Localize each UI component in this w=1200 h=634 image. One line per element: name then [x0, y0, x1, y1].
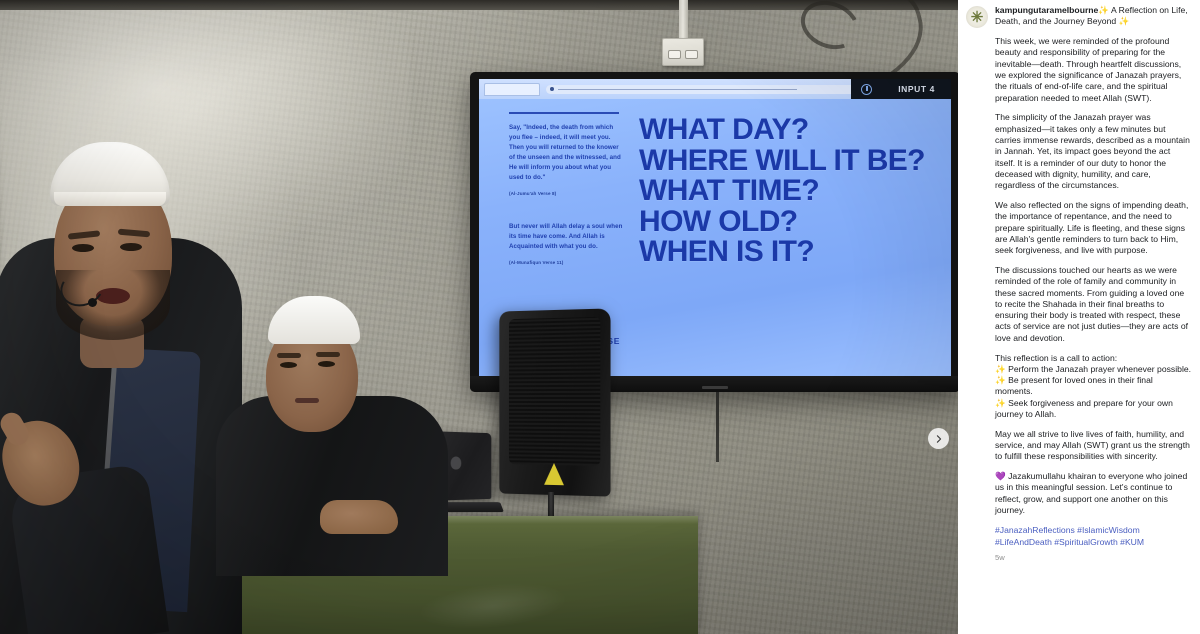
post-timestamp: 5w: [995, 553, 1192, 562]
caption-hashtags[interactable]: #JanazahReflections #IslamicWisdom #Life…: [995, 525, 1192, 548]
chevron-right-icon: [935, 435, 943, 443]
person-two-kufi-cap: [268, 296, 360, 344]
caption-body: kampungutaramelbourne✨ A Reflection on L…: [995, 5, 1192, 562]
sparkle-icon-cta-2: ✨: [995, 375, 1006, 385]
cta-item-2: Be present for loved ones in their final…: [995, 375, 1153, 396]
slide-divider: [509, 112, 619, 114]
assistant-person-seated: [232, 292, 442, 542]
avatar-asterisk-icon: ✳: [967, 7, 987, 27]
input-label: INPUT 4: [898, 84, 935, 94]
power-outlet: [662, 38, 704, 66]
post-username[interactable]: kampungutaramelbourne: [995, 5, 1098, 15]
slide-headline: WHAT DAY? WHERE WILL IT BE? WHAT TIME? H…: [639, 115, 925, 268]
person-two-eye-right: [318, 361, 335, 367]
post-media-photo[interactable]: INPUT 4 Say, "Indeed, the death from whi…: [0, 0, 958, 634]
purple-heart-icon: 💜: [995, 471, 1006, 481]
cta-item-3: Seek forgiveness and prepare for your ow…: [995, 398, 1173, 419]
slide-verse-two-reference: (Al-Munafiqun Verse 11): [509, 259, 624, 266]
caption-paragraph-1: This week, we were reminded of the profo…: [995, 36, 1192, 104]
caption-title-line: kampungutaramelbourne✨ A Reflection on L…: [995, 5, 1192, 28]
slide-headline-line-5: WHEN IS IT?: [639, 237, 925, 268]
caption-paragraph-4: The discussions touched our hearts as we…: [995, 265, 1192, 344]
table-cloth-fold: [416, 576, 570, 634]
slide-headline-line-1: WHAT DAY?: [639, 115, 925, 146]
person-two-eye-left: [280, 362, 297, 368]
person-one-eye-left: [72, 244, 94, 252]
speaker-person-standing: [0, 120, 250, 634]
cta-lead: This reflection is a call to action:: [995, 353, 1117, 363]
display-input-indicator: INPUT 4: [851, 79, 951, 99]
speaker-badge: [544, 463, 564, 485]
person-two-eyebrow-right: [316, 352, 340, 357]
laptop-logo-icon: [451, 457, 462, 470]
person-two-eyebrow-left: [277, 353, 301, 358]
caption-closing-paragraph-2: 💜 Jazakumullahu khairan to everyone who …: [995, 471, 1192, 516]
slide-headline-line-2: WHERE WILL IT BE?: [639, 146, 925, 177]
person-one-eye-right: [120, 243, 142, 251]
pa-speaker: [499, 308, 610, 496]
person-two-mouth: [295, 398, 319, 403]
outlet-socket-left: [668, 50, 681, 59]
person-one-kufi-cap: [50, 142, 170, 206]
outlet-socket-right: [685, 50, 698, 59]
caption-closing-paragraph-1: May we all strive to live lives of faith…: [995, 429, 1192, 463]
person-two-hands-on-keyboard: [320, 500, 398, 534]
screen-power-cable: [716, 392, 719, 462]
caption-paragraph-2: The simplicity of the Janazah prayer was…: [995, 112, 1192, 191]
avatar[interactable]: ✳: [966, 6, 988, 28]
slide-headline-line-4: HOW OLD?: [639, 207, 925, 238]
screen-brand-mark: [702, 386, 728, 389]
browser-tab: [484, 83, 540, 96]
closing-text: Jazakumullahu khairan to everyone who jo…: [995, 471, 1187, 515]
slide-verse-one-text: Say, "Indeed, the death from which you f…: [509, 124, 621, 181]
headset-microphone-tip: [88, 298, 97, 307]
slide-headline-line-3: WHAT TIME?: [639, 176, 925, 207]
speaker-grill: [509, 317, 600, 466]
carousel-next-button[interactable]: [928, 428, 949, 449]
slide-verse-two-text: But never will Allah delay a soul when i…: [509, 223, 622, 250]
instagram-post: INPUT 4 Say, "Indeed, the death from whi…: [0, 0, 1200, 634]
power-icon: [861, 84, 872, 95]
slide-verse-one: Say, "Indeed, the death from which you f…: [509, 123, 624, 198]
post-caption-panel: ✳ kampungutaramelbourne✨ A Reflection on…: [958, 0, 1200, 634]
cable-conduit: [679, 0, 688, 40]
sparkle-icon-cta-1: ✨: [995, 364, 1006, 374]
sparkle-icon-cta-3: ✨: [995, 398, 1006, 408]
sparkle-icon-start: ✨: [1098, 5, 1109, 15]
slide-verse-two: But never will Allah delay a soul when i…: [509, 222, 624, 267]
caption-row: ✳ kampungutaramelbourne✨ A Reflection on…: [966, 5, 1192, 562]
caption-paragraph-3: We also reflected on the signs of impend…: [995, 200, 1192, 256]
caption-call-to-action: This reflection is a call to action: ✨ P…: [995, 353, 1192, 421]
sparkle-icon-end: ✨: [1119, 16, 1130, 26]
cta-item-1: Perform the Janazah prayer whenever poss…: [1008, 364, 1191, 374]
slide-verse-one-reference: (Al-Jumu'ah Verse 8): [509, 190, 624, 197]
